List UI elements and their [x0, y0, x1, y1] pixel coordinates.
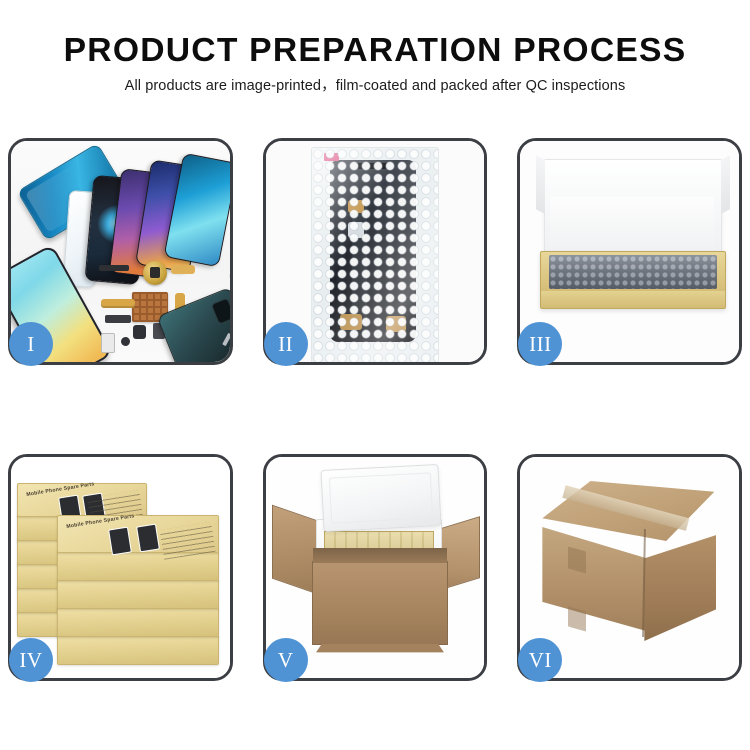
stacked-box — [57, 579, 219, 609]
step-badge-2: II — [264, 322, 308, 366]
kraft-box-tray — [540, 251, 726, 309]
process-steps-grid: I II — [8, 138, 742, 681]
stacked-box-top-right: Mobile Phone Spare Parts — [57, 515, 219, 553]
camera-module-part — [133, 325, 146, 339]
box-lid-face: Mobile Phone Spare Parts — [18, 484, 146, 516]
box-product-image — [136, 524, 160, 553]
speaker-coil-part — [143, 261, 167, 285]
page-subtitle: All products are image-printed，film-coat… — [0, 79, 750, 94]
screws-part — [225, 333, 230, 349]
page-header: PRODUCT PREPARATION PROCESS All products… — [0, 0, 750, 94]
stacked-boxes: Mobile Phone Spare Parts Mobile Phone Sp… — [17, 477, 229, 669]
step-panel-6[interactable]: VI — [517, 454, 742, 681]
carton-handle-tab — [568, 546, 586, 573]
flex-cable-part — [171, 265, 195, 274]
flex-cable-part — [105, 315, 131, 323]
tray-front-panel — [541, 291, 725, 308]
step-panel-2[interactable]: II — [263, 138, 488, 365]
step-panel-5[interactable]: V — [263, 454, 488, 681]
stacked-box — [57, 635, 219, 665]
stacked-box — [57, 607, 219, 637]
small-component-part — [101, 333, 115, 353]
stacked-box-top-left: Mobile Phone Spare Parts — [17, 483, 147, 517]
stacked-box — [57, 551, 219, 581]
earpiece-part — [99, 265, 129, 271]
foam-padding — [550, 197, 714, 255]
step-panel-1[interactable]: I — [8, 138, 233, 365]
box-product-image — [108, 527, 132, 556]
styrofoam-lid — [320, 464, 441, 532]
spare-parts-group — [107, 259, 230, 362]
flex-cable-part — [101, 299, 135, 308]
plastic-sheen — [312, 148, 438, 362]
step-badge-5: V — [264, 638, 308, 682]
process-row-top: I II — [8, 138, 742, 365]
button-part — [121, 337, 130, 346]
bubble-wrapped-contents — [549, 255, 717, 289]
step-badge-4: IV — [9, 638, 53, 682]
cardboard-carton — [312, 561, 448, 645]
box-lid-face: Mobile Phone Spare Parts — [58, 516, 218, 552]
step-panel-3[interactable]: III — [517, 138, 742, 365]
phone-screen-fan — [69, 155, 229, 273]
step-panel-4[interactable]: Mobile Phone Spare Parts Mobile Phone Sp… — [8, 454, 233, 681]
bubble-wrap-bag — [311, 147, 439, 362]
page-title: PRODUCT PREPARATION PROCESS — [0, 33, 750, 66]
step-badge-1: I — [9, 322, 53, 366]
process-row-bottom: Mobile Phone Spare Parts Mobile Phone Sp… — [8, 454, 742, 681]
